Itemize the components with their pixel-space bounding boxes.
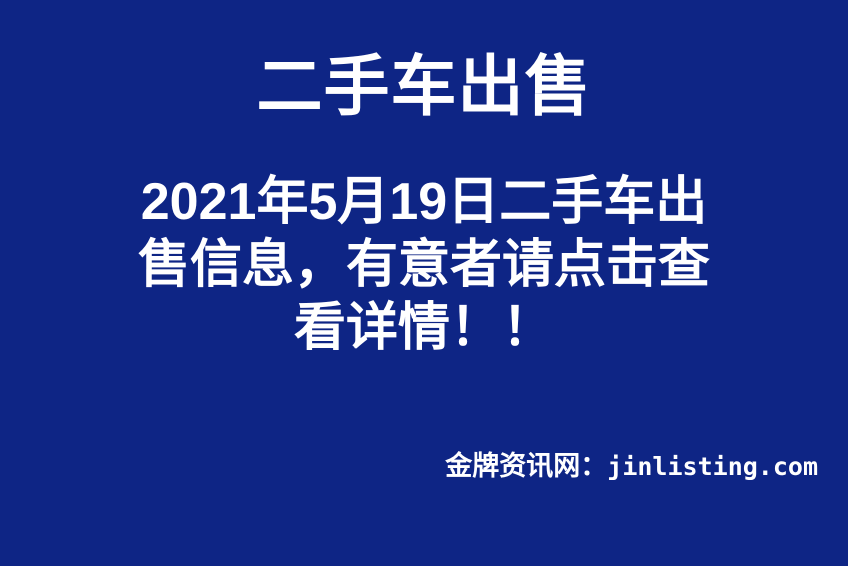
site-url: jinlisting.com — [607, 452, 818, 481]
poster-headline: 二手车出售 — [0, 50, 848, 122]
site-name-label: 金牌资讯网： — [445, 451, 607, 481]
poster-message: 2021年5月19日二手车出 售信息，有意者请点击查 看详情！！ — [0, 171, 848, 360]
message-line-2: 售信息，有意者请点击查 — [0, 234, 848, 297]
promo-poster: 二手车出售 2021年5月19日二手车出 售信息，有意者请点击查 看详情！！ 金… — [0, 0, 848, 566]
message-line-3: 看详情！！ — [0, 297, 848, 360]
message-line-1: 2021年5月19日二手车出 — [0, 171, 848, 234]
poster-footer: 金牌资讯网：jinlisting.com — [445, 449, 818, 484]
